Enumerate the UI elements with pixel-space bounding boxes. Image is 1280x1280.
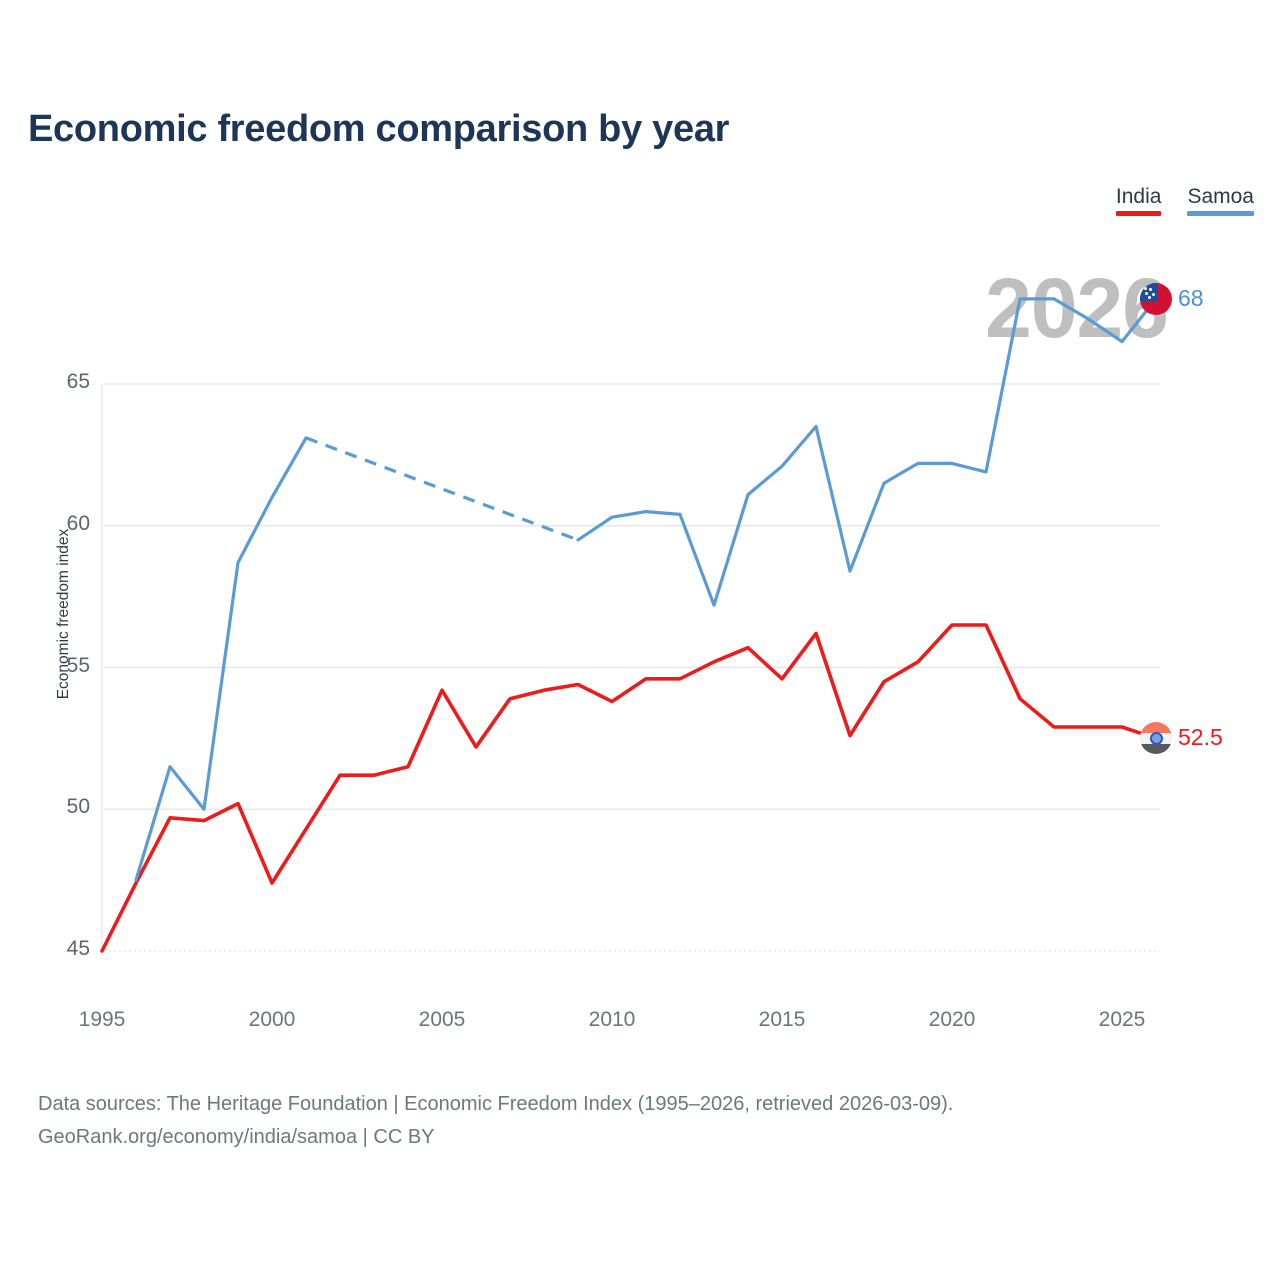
y-axis-title: Economic freedom index	[55, 504, 73, 724]
india-flag-icon	[1140, 722, 1172, 754]
series-line-samoa[interactable]	[578, 299, 1156, 605]
x-tick-label: 2025	[1077, 1008, 1167, 1032]
series-line-india[interactable]	[102, 625, 1156, 951]
samoa-star	[1145, 292, 1148, 295]
x-tick-label: 2015	[737, 1008, 827, 1032]
india-band-green	[1140, 744, 1172, 755]
footer-line-1: Data sources: The Heritage Foundation | …	[38, 1088, 953, 1121]
samoa-star	[1144, 287, 1147, 290]
chart-page: Economic freedom comparison by year Indi…	[0, 0, 1280, 1280]
x-tick-label: 2005	[397, 1008, 487, 1032]
y-tick-label: 60	[46, 512, 90, 536]
x-tick-label: 2010	[567, 1008, 657, 1032]
samoa-flag-icon	[1140, 283, 1172, 315]
x-tick-label: 2000	[227, 1008, 317, 1032]
endpoint-label-samoa: 68	[1178, 285, 1204, 312]
samoa-star	[1149, 288, 1152, 291]
samoa-star	[1148, 296, 1151, 299]
series-line-gap-samoa	[306, 438, 578, 540]
samoa-star	[1152, 293, 1155, 296]
y-tick-label: 45	[46, 937, 90, 961]
y-tick-label: 65	[46, 370, 90, 394]
footer-line-2: GeoRank.org/economy/india/samoa | CC BY	[38, 1121, 953, 1154]
india-chakra-icon	[1150, 732, 1163, 745]
endpoint-label-india: 52.5	[1178, 724, 1223, 751]
y-tick-label: 50	[46, 795, 90, 819]
footer-attribution: Data sources: The Heritage Foundation | …	[38, 1088, 953, 1154]
y-tick-label: 55	[46, 654, 90, 678]
x-tick-label: 2020	[907, 1008, 997, 1032]
x-tick-label: 1995	[57, 1008, 147, 1032]
